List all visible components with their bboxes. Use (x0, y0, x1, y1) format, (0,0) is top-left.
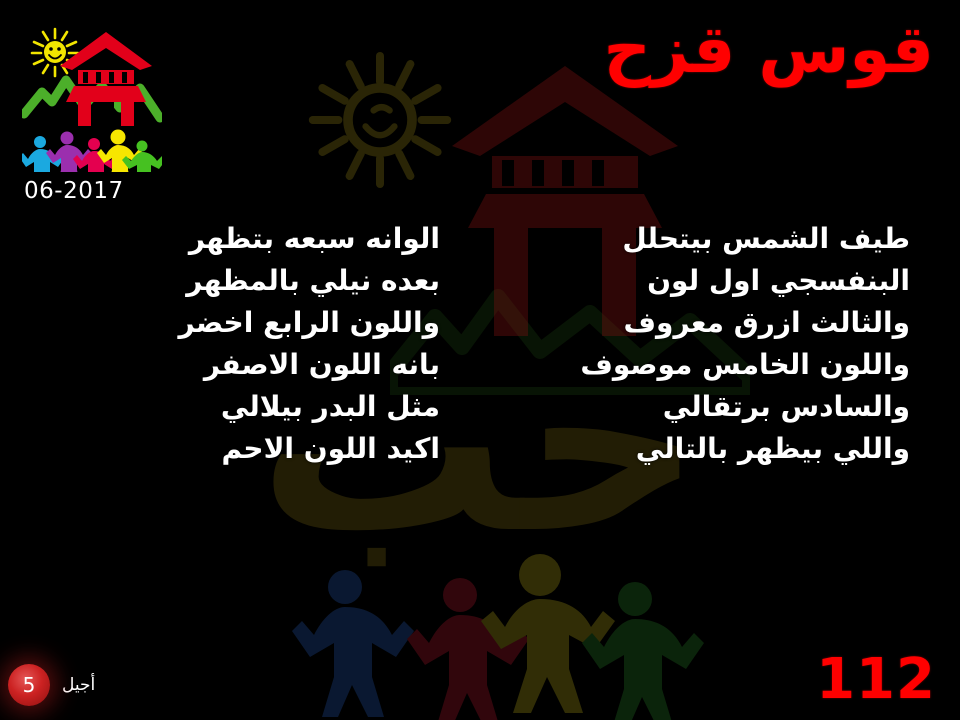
verse-line: والسادس برتقالي (470, 386, 910, 428)
verse-line: بعده نيلي بالمظهر (0, 260, 440, 302)
verse-column-left: الوانه سبعه بتظهر بعده نيلي بالمظهر والل… (0, 218, 450, 470)
verse-line: مثل البدر بيلالي (0, 386, 440, 428)
slide-root: حب (0, 0, 960, 720)
brand-label: أجيل (62, 675, 95, 695)
page-number-badge[interactable]: 5 (8, 664, 50, 706)
verse-column-right: طيف الشمس بيتحلل البنفسجي اول لون والثال… (470, 218, 924, 470)
page-title: قوس قزح (604, 14, 934, 87)
content-layer: 06-2017 قوس قزح طيف الشمس بيتحلل البنفسج… (0, 0, 960, 720)
verse-line: طيف الشمس بيتحلل (470, 218, 910, 260)
verse-line: واللون الخامس موصوف (470, 344, 910, 386)
slide-number: 112 (816, 647, 936, 712)
footer-left-group: 5 أجيل (8, 664, 95, 706)
verses-container: طيف الشمس بيتحلل البنفسجي اول لون والثال… (0, 218, 960, 470)
verse-line: البنفسجي اول لون (470, 260, 910, 302)
verse-line: الوانه سبعه بتظهر (0, 218, 440, 260)
logo-date-label: 06-2017 (24, 178, 124, 204)
verse-line: بانه اللون الاصفر (0, 344, 440, 386)
logo-people-icon (22, 130, 162, 173)
verse-line: واللي بيظهر بالتالي (470, 428, 910, 470)
logo-house-icon (60, 32, 152, 126)
ajyal-logo (22, 22, 162, 172)
verse-line: واللون الرابع اخضر (0, 302, 440, 344)
verse-line: اكيد اللون الاحم (0, 428, 440, 470)
verse-line: والثالث ازرق معروف (470, 302, 910, 344)
